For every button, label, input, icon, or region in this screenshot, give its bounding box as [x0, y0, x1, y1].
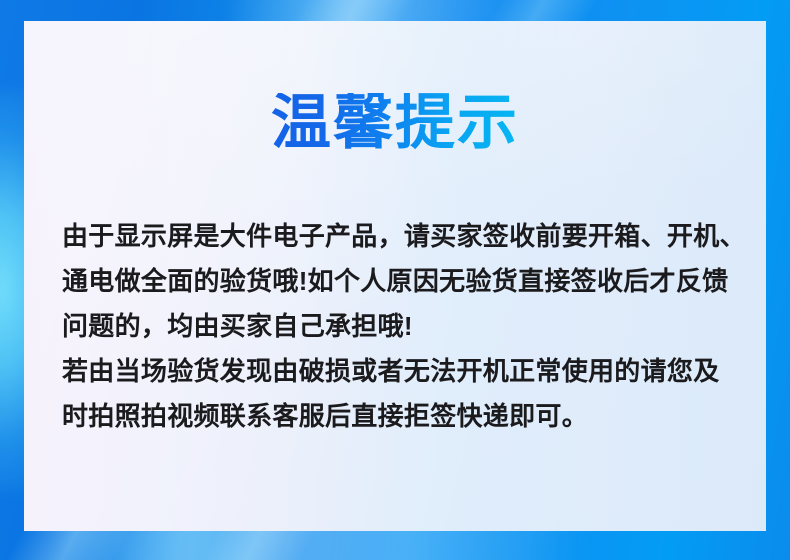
notice-title: 温馨提示 [271, 93, 519, 153]
notice-body-text: 由于显示屏是大件电子产品，请买家签收前要开箱、开机、 通电做全面的验货哦!如个人… [62, 214, 748, 439]
notice-panel: 温馨提示 由于显示屏是大件电子产品，请买家签收前要开箱、开机、 通电做全面的验货… [24, 21, 766, 531]
notice-line-1: 由于显示屏是大件电子产品，请买家签收前要开箱、开机、 [62, 214, 748, 259]
notice-line-2: 通电做全面的验货哦!如个人原因无验货直接签收后才反馈 [62, 259, 748, 304]
promotional-notice-banner: 温馨提示 由于显示屏是大件电子产品，请买家签收前要开箱、开机、 通电做全面的验货… [0, 0, 790, 560]
notice-title-container: 温馨提示 [24, 93, 766, 153]
notice-line-5: 时拍照拍视频联系客服后直接拒签快递即可。 [62, 394, 748, 439]
notice-line-4: 若由当场验货发现由破损或者无法开机正常使用的请您及 [62, 349, 748, 394]
notice-line-3: 问题的，均由买家自己承担哦! [62, 304, 748, 349]
